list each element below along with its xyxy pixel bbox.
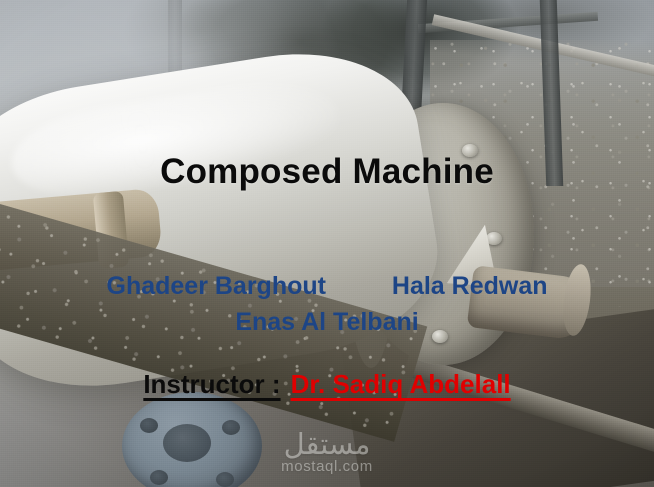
author-name-2: Hala Redwan [392, 272, 548, 300]
author-name-1: Ghadeer Barghout [107, 272, 326, 300]
presentation-slide: Composed Machine Ghadeer Barghout Hala R… [0, 0, 654, 487]
author-name-3: Enas Al Telbani [235, 308, 418, 336]
authors-row-2: Enas Al Telbani [0, 308, 654, 337]
authors-row-1: Ghadeer Barghout Hala Redwan [0, 272, 654, 301]
slide-title: Composed Machine [0, 152, 654, 192]
instructor-label: Instructor : [143, 369, 280, 399]
slide-text-content: Composed Machine Ghadeer Barghout Hala R… [0, 0, 654, 487]
instructor-name: Dr. Sadiq Abdelall [291, 369, 511, 399]
instructor-line: Instructor :Dr. Sadiq Abdelall [0, 369, 654, 400]
